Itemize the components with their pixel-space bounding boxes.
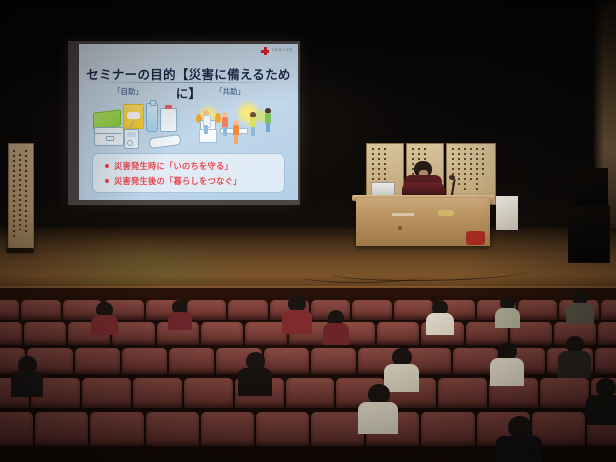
bullet-dot-icon: [105, 164, 109, 168]
desk-item: [438, 210, 454, 216]
water-bottle-icon: [146, 103, 158, 132]
bullet-text-1: 災害発生時に「いのちを守る」: [114, 160, 233, 172]
label-jijo: 「自助」: [113, 86, 143, 97]
bullet-row-1: 災害発生時に「いのちを守る」: [105, 160, 233, 172]
pot-stand-icon: [199, 129, 217, 143]
microphone-icon: [449, 175, 455, 180]
red-bag: [466, 231, 485, 245]
red-cross-logo: 日本赤十字社: [261, 47, 293, 55]
table-detail: [398, 226, 402, 230]
bullet-row-2: 災害発生後の「暮らしをつなぐ」: [105, 175, 241, 187]
speaker-bottom: [568, 205, 610, 263]
title-divider: [89, 82, 288, 83]
food-pack-icon: [123, 104, 144, 129]
pack-label: [127, 112, 140, 119]
projection-screen: 日本赤十字社 セミナーの目的【災害に備えるために】 「自助」 「共助」: [79, 44, 298, 200]
table-paper: [392, 213, 414, 216]
slide-title: セミナーの目的【災害に備えるために】: [79, 64, 298, 102]
slide-bullet-panel: 災害発生時に「いのちを守る」 災害発生後の「暮らしをつなぐ」: [92, 153, 285, 193]
logo-text: 日本赤十字社: [271, 49, 293, 52]
first-aid-case-icon: [94, 127, 124, 146]
lecture-hall-photo: 日本赤十字社 セミナーの目的【災害に備えるために】 「自助」 「共助」: [0, 0, 616, 462]
red-cross-icon: [261, 47, 269, 55]
stage-banner: [8, 143, 34, 252]
canned-food-icon: [160, 108, 177, 132]
stage-cable-secondary: [300, 270, 420, 283]
white-equipment-case: [496, 196, 518, 230]
radio-icon: [124, 129, 139, 149]
flashlight-icon: [148, 134, 181, 149]
bullet-text-2: 災害発生後の「暮らしをつなぐ」: [114, 175, 241, 187]
label-kyojo: 「共助」: [215, 86, 245, 97]
bullet-dot-icon: [105, 179, 109, 183]
emergency-supplies-illustration: [93, 100, 185, 154]
banner-base: [6, 248, 34, 253]
relief-people-illustration: [195, 98, 291, 156]
